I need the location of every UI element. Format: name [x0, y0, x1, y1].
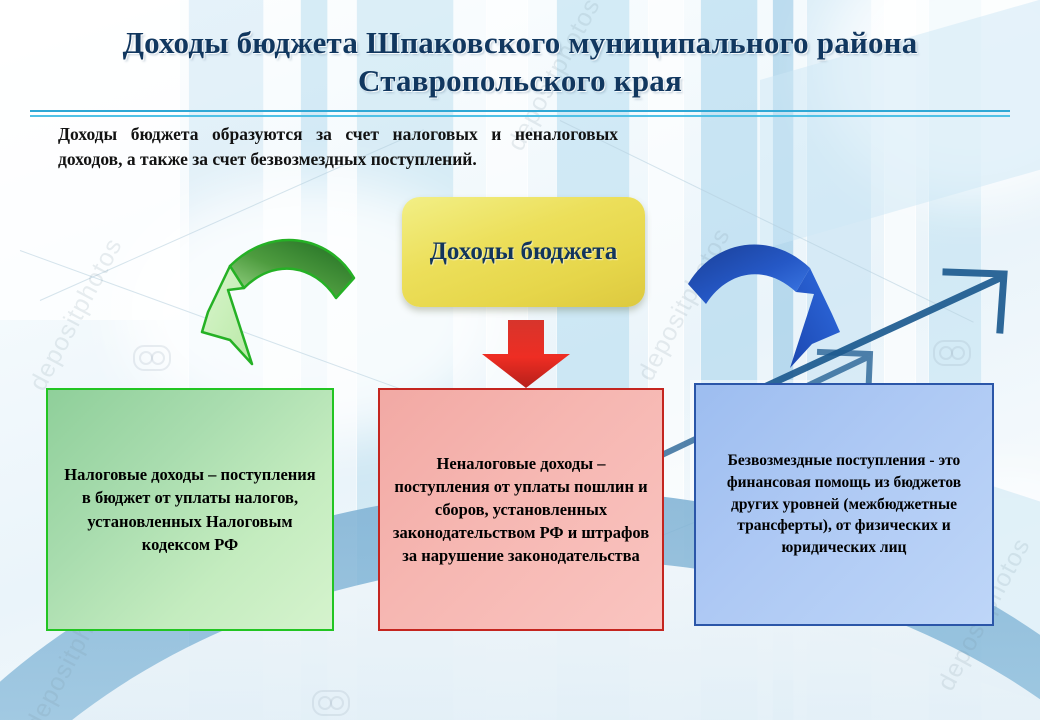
node-budget-label: Доходы бюджета — [430, 237, 618, 267]
green-curved-arrow-icon — [178, 228, 378, 388]
category-box-non-tax-revenues: Неналоговые доходы – поступления от упла… — [378, 388, 664, 631]
blue-curved-arrow-icon — [678, 232, 868, 392]
node-budget-revenues: Доходы бюджета — [402, 197, 645, 307]
slide-canvas: depositphotos depositphotos depositphoto… — [0, 0, 1040, 720]
category-label-gratuitous-receipts: Безвозмездные поступления - это финансов… — [704, 450, 984, 558]
red-down-arrow-icon — [478, 318, 574, 390]
watermark-badge-icon — [133, 345, 171, 371]
page-title: Доходы бюджета Шпаковского муниципальног… — [0, 24, 1040, 100]
category-box-gratuitous-receipts: Безвозмездные поступления - это финансов… — [694, 383, 994, 626]
watermark-badge-icon — [933, 340, 971, 366]
title-rule-secondary — [30, 115, 1010, 117]
category-label-non-tax-revenues: Неналоговые доходы – поступления от упла… — [388, 452, 654, 567]
category-box-tax-revenues: Налоговые доходы – поступления в бюджет … — [46, 388, 334, 631]
title-rule — [30, 110, 1010, 112]
category-label-tax-revenues: Налоговые доходы – поступления в бюджет … — [58, 463, 322, 557]
lead-paragraph: Доходы бюджета образуются за счет налого… — [58, 122, 618, 172]
watermark-badge-icon — [312, 690, 350, 716]
